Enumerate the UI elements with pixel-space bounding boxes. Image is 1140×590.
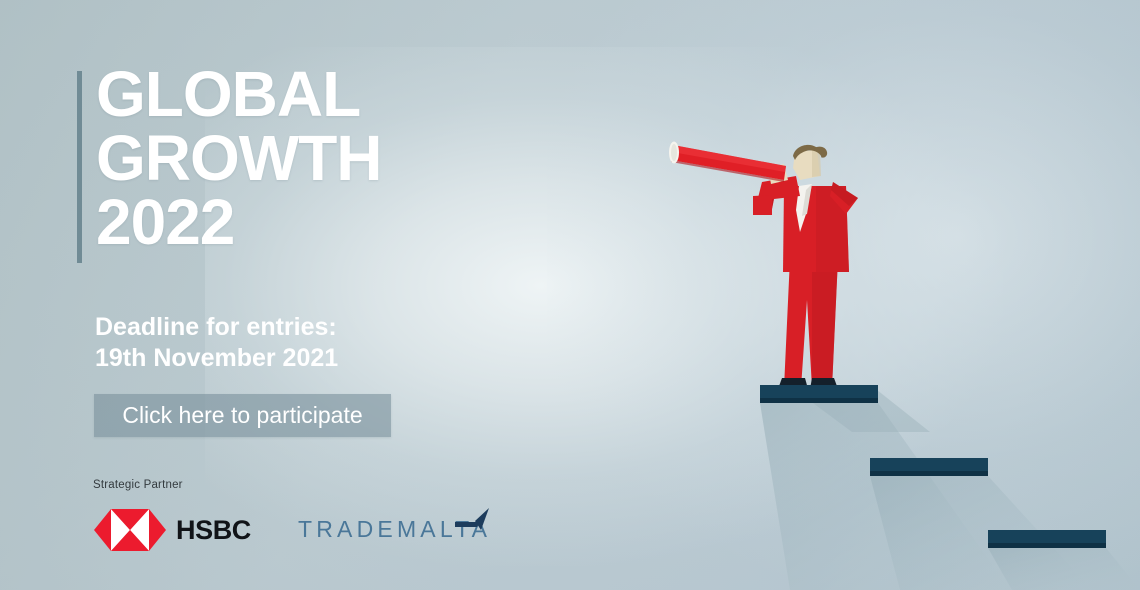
strategic-partner-label: Strategic Partner [93, 479, 183, 491]
trousers-shade [812, 258, 838, 388]
hsbc-wordmark: HSBC [176, 515, 251, 546]
step-2-edge [870, 471, 988, 476]
page-title: GLOBAL GROWTH 2022 [96, 62, 382, 254]
telescope [669, 142, 786, 183]
headline-accent-bar [77, 71, 82, 263]
forearm [753, 195, 772, 215]
step-3-edge [988, 543, 1106, 548]
step-1-edge [760, 398, 878, 403]
trademalta-logo[interactable]: TRADEMALTA [298, 516, 491, 543]
telescope-lens-inner [671, 144, 677, 161]
participate-button[interactable]: Click here to participate [94, 394, 391, 437]
deadline-text: Deadline for entries: 19th November 2021 [95, 312, 338, 374]
hsbc-hexagon-icon [93, 508, 167, 552]
step-shadows [760, 403, 1140, 590]
hsbc-logo[interactable]: HSBC [93, 508, 251, 552]
trademalta-arrow-icon [453, 506, 493, 534]
promo-banner: GLOBAL GROWTH 2022 Deadline for entries:… [0, 0, 1140, 590]
businessman-figure [669, 142, 858, 390]
